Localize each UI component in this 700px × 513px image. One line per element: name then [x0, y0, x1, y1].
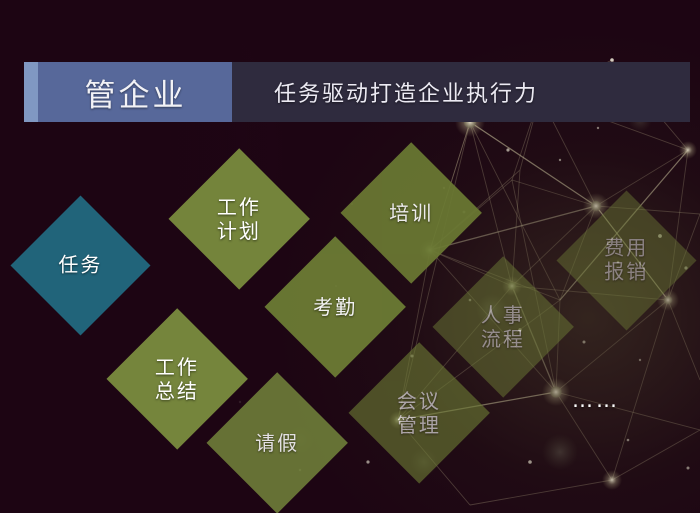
diamond-label: 请假	[255, 431, 299, 455]
diamond-label: 工作 总结	[155, 355, 199, 404]
diamond-label: 任务	[58, 253, 102, 277]
diamond-node-expense[interactable]: 费用 报销	[556, 190, 696, 330]
header-subtitle-block: 任务驱动打造企业执行力	[232, 62, 690, 122]
ellipsis-more-indicator: ……	[572, 388, 620, 412]
diamond-node-work-plan[interactable]: 工作 计划	[168, 148, 310, 290]
diamond-label: 工作 计划	[217, 195, 261, 244]
header-accent-bar	[24, 62, 38, 122]
header-brand-block: 管企业	[24, 62, 233, 122]
slide-canvas: 任务工作 计划培训费用 报销考勤人事 流程工作 总结会议 管理请假 管企业 任务…	[0, 0, 700, 513]
diamond-label: 会议 管理	[397, 389, 441, 438]
header-brand: 管企业	[38, 62, 233, 122]
diamond-label: 培训	[389, 201, 433, 225]
diamond-label: 费用 报销	[604, 236, 648, 285]
subtitle-text: 任务驱动打造企业执行力	[232, 76, 538, 108]
diamond-node-task[interactable]: 任务	[10, 195, 150, 335]
diamond-label: 考勤	[313, 295, 357, 319]
brand-title: 管企业	[85, 70, 187, 115]
diamond-label: 人事 流程	[481, 303, 525, 352]
